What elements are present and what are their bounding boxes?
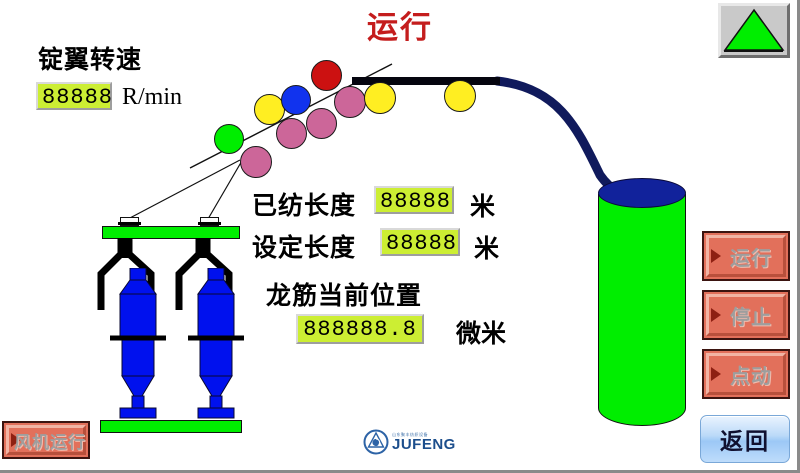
jufeng-swirl-icon	[363, 429, 389, 455]
value-rail-position[interactable]: 888888.8	[296, 314, 424, 344]
logo-name: JUFENG	[392, 437, 456, 452]
jog-button[interactable]: 点动	[702, 349, 790, 399]
bobbin-left	[108, 268, 168, 424]
ball-blue	[281, 85, 311, 115]
status-indicator-frame	[718, 3, 790, 58]
value-flyer-speed[interactable]: 88888	[36, 82, 112, 110]
ball-green	[214, 124, 244, 154]
ball-red	[311, 60, 342, 91]
ball-pink-3	[306, 108, 337, 139]
run-button-label: 运行	[704, 233, 788, 279]
ball-pink-1	[240, 146, 272, 178]
label-rail-position: 龙筋当前位置	[266, 276, 422, 312]
package-top-ellipse	[598, 178, 686, 208]
unit-set-length: 米	[474, 229, 499, 265]
ball-yellow-3	[444, 80, 476, 112]
triangle-up-icon	[721, 6, 787, 55]
fan-run-button[interactable]: 风机运行	[2, 421, 90, 459]
label-set-length: 设定长度	[252, 228, 356, 264]
ball-pink-4	[334, 86, 366, 118]
run-button[interactable]: 运行	[702, 231, 790, 281]
jog-button-label: 点动	[704, 351, 788, 397]
label-flyer-speed: 锭翼转速	[38, 40, 142, 76]
brand-logo: 山东聚丰纺织设备 JUFENG	[363, 428, 478, 456]
unit-flyer-speed: R/min	[122, 84, 182, 111]
spindle-cap-bar-right	[198, 222, 221, 225]
unit-spun-length: 米	[470, 187, 495, 223]
return-button[interactable]: 返回	[700, 415, 790, 463]
ball-yellow-2	[364, 82, 396, 114]
package-cylinder	[598, 194, 686, 408]
value-set-length[interactable]: 88888	[380, 228, 460, 256]
stop-button-label: 停止	[704, 292, 788, 338]
bobbin-right	[186, 268, 246, 424]
unit-rail-position: 微米	[456, 314, 506, 350]
value-spun-length[interactable]: 88888	[374, 186, 454, 214]
stop-button[interactable]: 停止	[702, 290, 790, 340]
spindle-cap-bar-left	[118, 222, 141, 225]
ball-pink-2	[276, 118, 307, 149]
label-spun-length: 已纺长度	[252, 186, 356, 222]
hmi-screen: 运行	[0, 0, 800, 473]
fan-run-button-label: 风机运行	[4, 423, 88, 457]
